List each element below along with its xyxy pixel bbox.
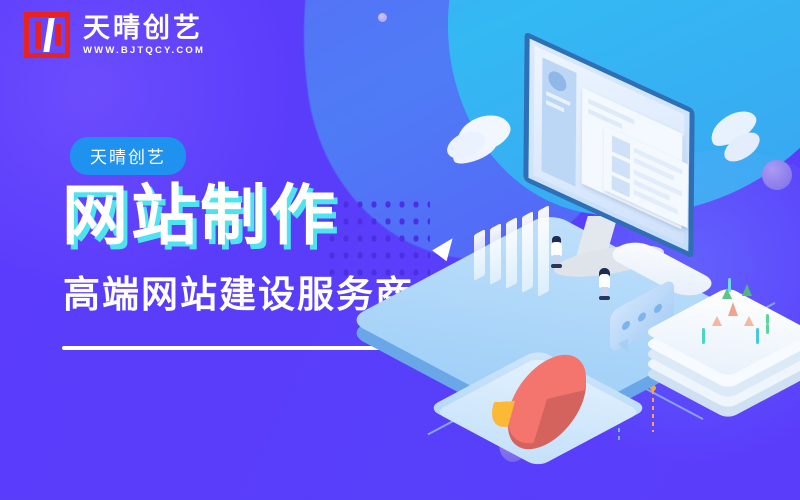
brand-monogram-icon: [24, 12, 70, 58]
isometric-illustration: [430, 60, 800, 460]
dot-grid-pattern: [325, 196, 430, 282]
brand-badge: 天晴创艺: [70, 137, 186, 175]
tree-icon: [744, 316, 754, 326]
tree-icon: [742, 284, 752, 296]
bar-chart-icon: [506, 217, 517, 289]
brand-name: 天晴创艺: [83, 14, 205, 42]
bar-chart-icon: [474, 229, 485, 281]
desktop-monitor-icon: [524, 70, 694, 220]
bar-chart-icon: [490, 223, 501, 285]
promo-banner: 天晴创艺 WWW.BJTQCY.COM 天晴创艺 网站制作 高端网站建设服务商: [0, 0, 800, 500]
tree-icon: [728, 302, 738, 316]
page-subtitle: 高端网站建设服务商: [63, 276, 414, 313]
page-title: 网站制作: [62, 182, 338, 248]
brand-url: WWW.BJTQCY.COM: [83, 45, 205, 56]
divider: [62, 346, 384, 350]
server-stack-icon: [678, 272, 788, 368]
brand-logo[interactable]: 天晴创艺 WWW.BJTQCY.COM: [24, 12, 205, 58]
bar-chart-icon: [522, 211, 533, 293]
decorative-sphere: [378, 13, 387, 22]
tree-icon: [712, 316, 722, 326]
